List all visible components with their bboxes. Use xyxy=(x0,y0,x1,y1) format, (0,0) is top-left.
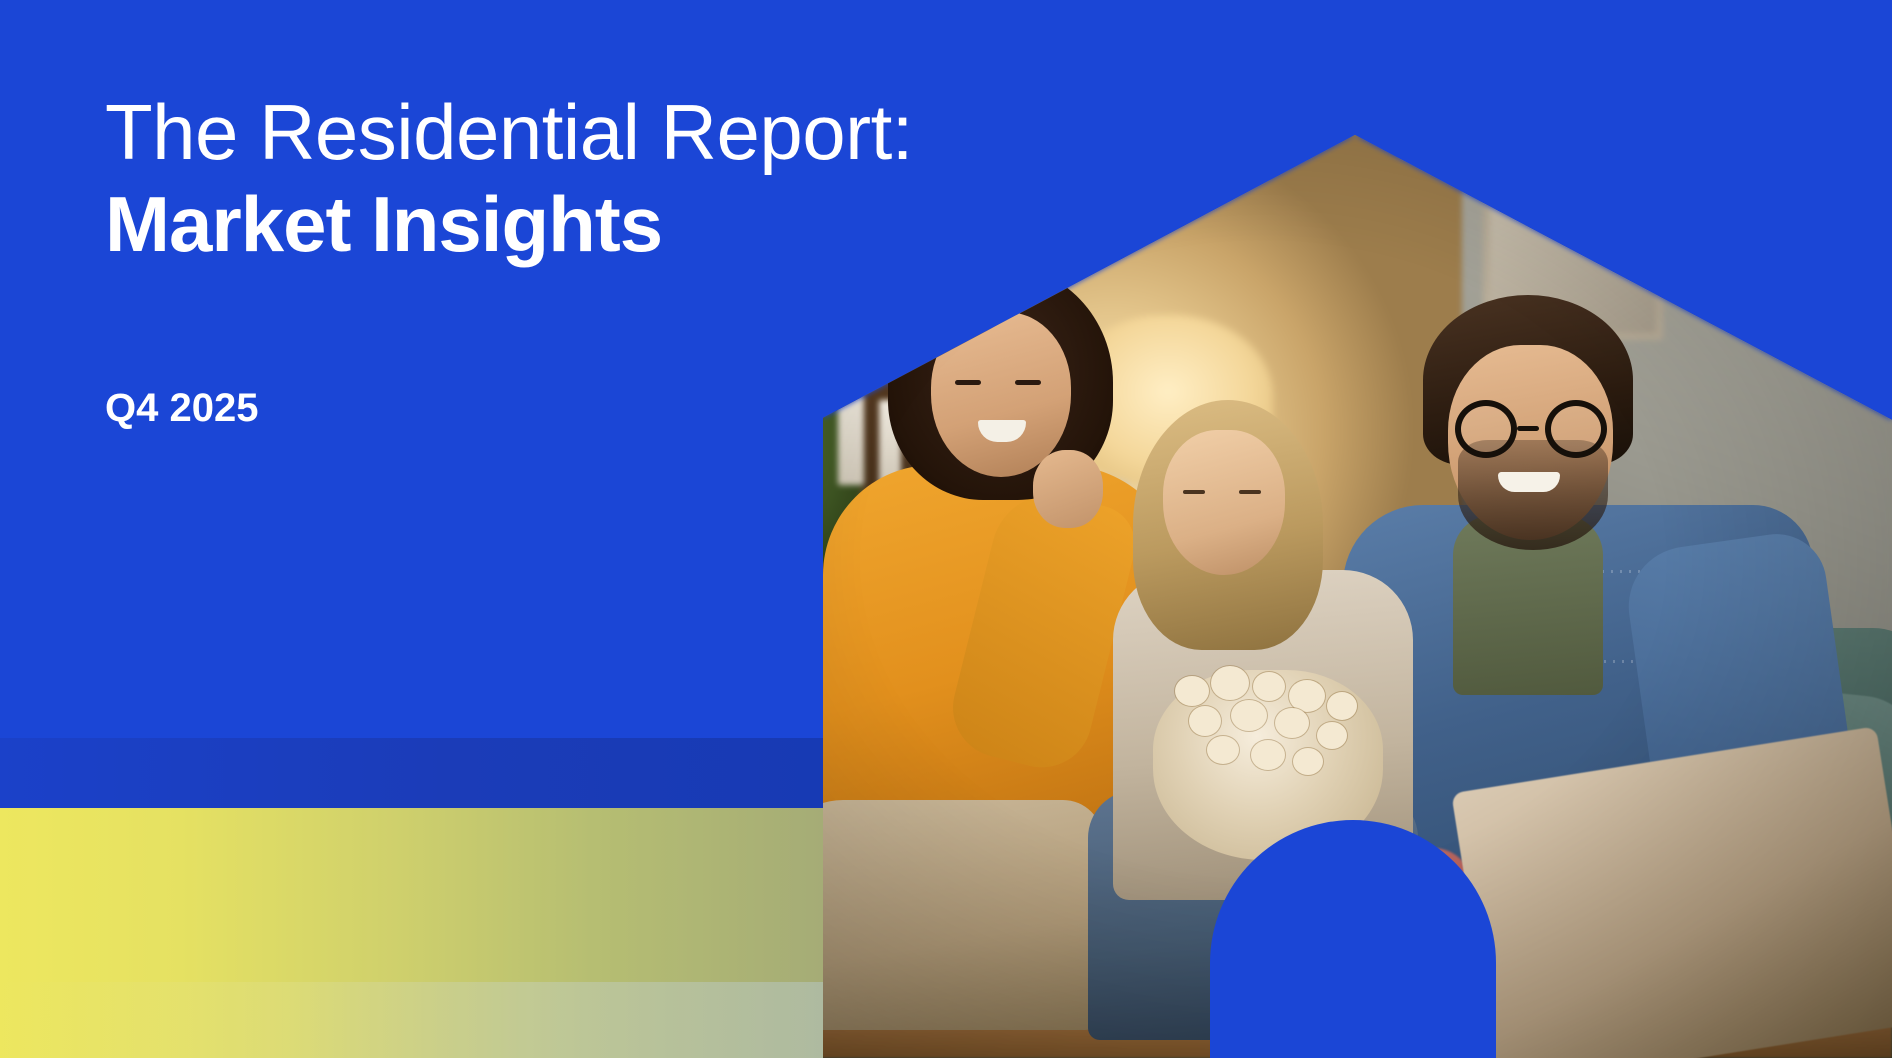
book xyxy=(833,270,848,344)
book xyxy=(803,400,818,488)
title-line-2: Market Insights xyxy=(105,178,805,270)
title-line-1: The Residential Report: xyxy=(105,86,805,178)
book xyxy=(851,266,866,344)
book xyxy=(887,263,902,344)
subtitle-quarter-year: Q4 2025 xyxy=(105,386,258,431)
dark-blue-divider-band xyxy=(0,738,823,808)
book xyxy=(869,272,884,344)
book xyxy=(905,275,920,344)
report-cover-slide: The Residential Report: Market Insights … xyxy=(0,0,1892,1058)
yellow-to-olive-gradient-band xyxy=(0,808,823,1058)
page-title: The Residential Report: Market Insights xyxy=(105,86,805,270)
